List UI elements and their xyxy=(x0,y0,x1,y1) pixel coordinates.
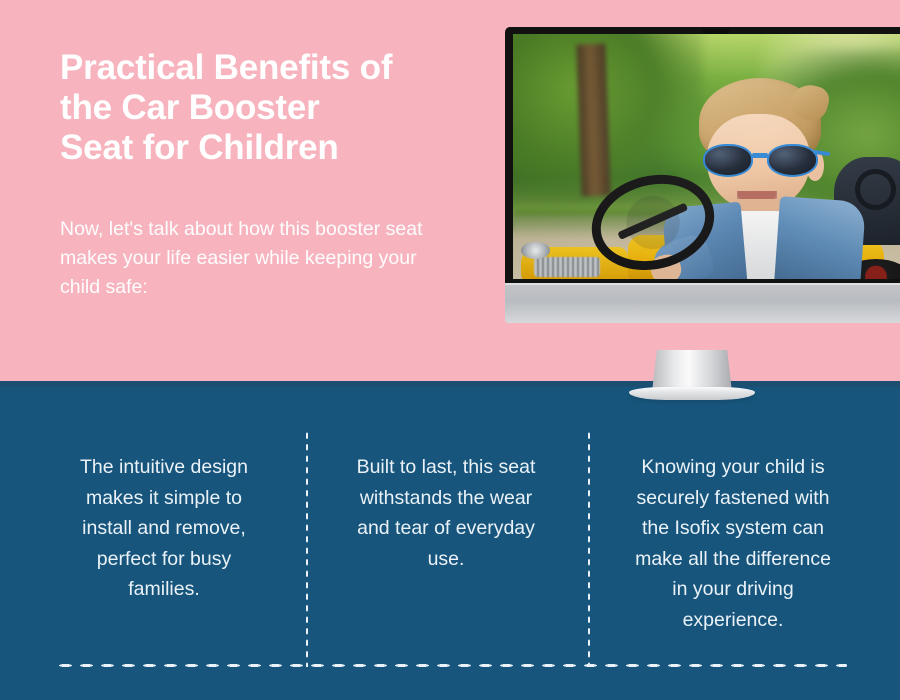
headline-block: Practical Benefits of the Car Booster Se… xyxy=(60,48,480,168)
dotted-bottom-rule xyxy=(55,663,847,668)
desktop-monitor xyxy=(505,27,900,323)
sunglasses-left-lens xyxy=(703,144,754,176)
page-subtitle: Now, let's talk about how this booster s… xyxy=(60,215,470,302)
blue-sunglasses xyxy=(703,144,818,176)
tree-trunk xyxy=(576,43,610,196)
monitor-stand-neck xyxy=(652,350,732,392)
steering-wheel-spoke xyxy=(617,203,688,240)
benefit-item-ease-of-use: The intuitive design makes it simple to … xyxy=(44,452,284,605)
page-title: Practical Benefits of the Car Booster Se… xyxy=(60,48,480,168)
infographic-canvas: Practical Benefits of the Car Booster Se… xyxy=(0,0,900,700)
sunglasses-bridge xyxy=(752,153,768,158)
sunglasses-right-lens xyxy=(767,144,818,176)
dotted-divider-left xyxy=(305,430,309,667)
boy-in-toy-car-photo xyxy=(513,34,900,279)
monitor-stand-base xyxy=(629,387,755,400)
benefits-row: The intuitive design makes it simple to … xyxy=(0,430,900,670)
benefit-item-isofix-safety: Knowing your child is securely fastened … xyxy=(608,452,858,635)
dotted-divider-right xyxy=(587,430,591,667)
benefit-item-durability: Built to last, this seat withstands the … xyxy=(326,452,566,574)
denim-jacket-right xyxy=(774,196,866,279)
monitor-bezel xyxy=(505,27,900,283)
panel-divider-stripe xyxy=(0,381,900,387)
toy-car-grille xyxy=(534,257,600,277)
monitor-chin xyxy=(505,283,900,323)
monitor-screen xyxy=(513,34,900,279)
boy-figure xyxy=(678,78,843,279)
